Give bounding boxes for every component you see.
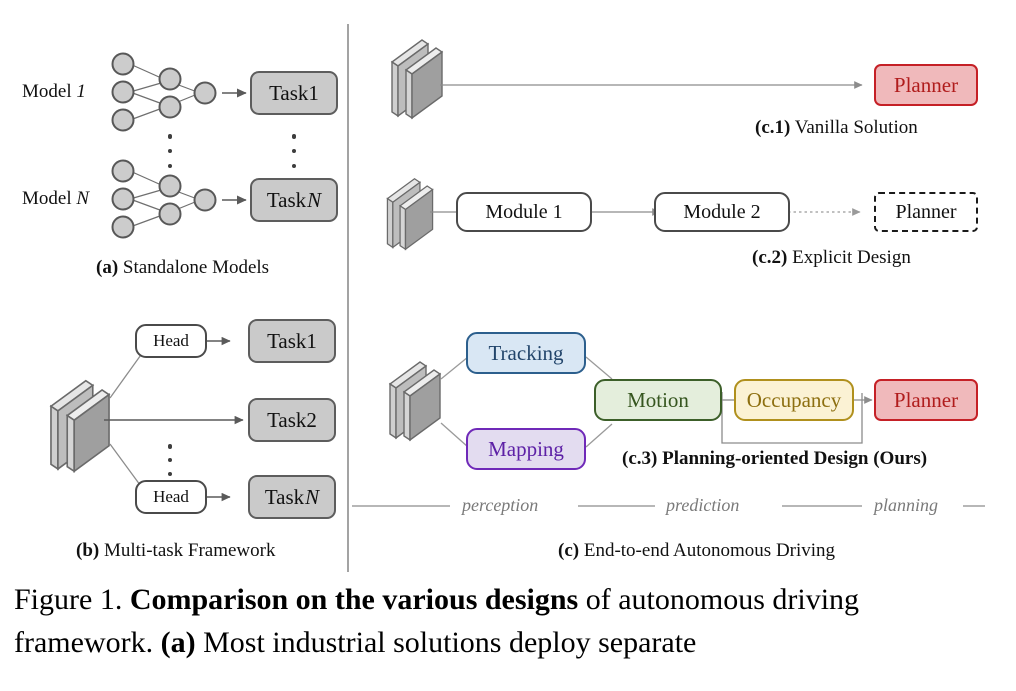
task-1-b-word: Task [267,329,306,354]
panel-c2-caption-tag: (c.2) [752,247,787,268]
planner-box-c3[interactable]: Planner [874,379,978,421]
mapping-box[interactable]: Mapping [466,428,586,470]
occupancy-box[interactable]: Occupancy [734,379,854,421]
figure-caption: Figure 1. Comparison on the various desi… [14,578,1004,664]
task-box-n-a[interactable]: Task N [250,178,338,222]
task-2-b-index: 2 [306,408,317,433]
panel-c2-caption: (c.2) Explicit Design [752,247,911,269]
backbone-3d-icon-c3 [390,362,440,440]
task-1-a-index: 1 [308,81,319,106]
task-n-a-word: Task [267,188,306,213]
panel-c1-caption: (c.1) Vanilla Solution [755,117,918,139]
panel-a-caption-text: Standalone Models [118,257,269,278]
head-box-bottom[interactable]: Head [135,480,207,514]
panel-c3-caption-text: Planning-oriented Design (Ours) [657,448,927,469]
panel-c-caption-tag: (c) [558,540,579,561]
task-1-a-word: Task [269,81,308,106]
motion-label: Motion [627,388,689,413]
backbone-3d-icon-b [51,381,109,472]
panel-c1-caption-text: Vanilla Solution [790,117,917,138]
module-1-box[interactable]: Module 1 [456,192,592,232]
panel-a-caption-tag: (a) [96,257,118,278]
figure-caption-bold-1: Comparison on the various designs [130,583,578,616]
vertical-ellipsis-b [166,444,174,476]
stage-label-perception: perception [462,495,538,516]
head-top-label: Head [153,331,189,351]
planner-box-c1[interactable]: Planner [874,64,978,106]
panel-b-caption-tag: (b) [76,540,99,561]
model-n-index: N [76,188,89,209]
figure-caption-tail: Most industrial solutions deploy separat… [196,626,697,659]
task-box-1-b[interactable]: Task 1 [248,319,336,363]
planner-c3-label: Planner [894,388,958,413]
module-2-box[interactable]: Module 2 [654,192,790,232]
task-1-b-index: 1 [306,329,317,354]
head-bottom-label: Head [153,487,189,507]
task-2-b-word: Task [267,408,306,433]
panel-c-caption: (c) End-to-end Autonomous Driving [558,540,835,562]
head-box-top[interactable]: Head [135,324,207,358]
task-n-b-index: N [304,485,319,510]
panel-c3-caption: (c.3) Planning-oriented Design (Ours) [622,448,927,470]
task-n-b-word: Task [265,485,304,510]
planner-box-c2-dashed[interactable]: Planner [874,192,978,232]
figure-caption-lead: Figure 1. [14,583,122,616]
task-box-n-b[interactable]: Task N [248,475,336,519]
model-n-label: Model N [22,188,89,210]
planner-c2-label: Planner [895,201,956,224]
model-1-index: 1 [76,81,86,102]
tracking-box[interactable]: Tracking [466,332,586,374]
module-2-label: Module 2 [683,201,760,224]
figure-caption-bold-2: (a) [161,626,196,659]
model-1-word: Model [22,81,76,102]
tracking-label: Tracking [488,341,563,366]
task-n-a-index: N [306,188,321,213]
figure-canvas: Model 1 Model N Task 1 Task N (a) Standa… [0,0,1016,575]
panel-c3-caption-tag: (c.3) [622,448,657,469]
backbone-3d-icon-c2 [387,179,432,249]
panel-b-caption: (b) Multi-task Framework [76,540,276,562]
stage-label-planning: planning [874,495,938,516]
motion-box[interactable]: Motion [594,379,722,421]
panel-b-caption-text: Multi-task Framework [99,540,275,561]
task-box-2-b[interactable]: Task 2 [248,398,336,442]
backbone-3d-icon-c1 [392,40,442,118]
mapping-label: Mapping [488,437,564,462]
panel-c2-caption-text: Explicit Design [787,247,910,268]
model-1-label: Model 1 [22,81,86,103]
task-box-1-a[interactable]: Task 1 [250,71,338,115]
module-1-label: Module 1 [485,201,562,224]
panel-c1-caption-tag: (c.1) [755,117,790,138]
vertical-ellipsis-a-tasks [290,134,298,168]
model-n-word: Model [22,188,76,209]
planner-c1-label: Planner [894,73,958,98]
panel-c-caption-text: End-to-end Autonomous Driving [579,540,835,561]
panel-a-caption: (a) Standalone Models [96,257,269,279]
stage-label-prediction: prediction [666,495,739,516]
vertical-ellipsis-a-models [166,134,174,168]
occupancy-label: Occupancy [747,388,841,413]
